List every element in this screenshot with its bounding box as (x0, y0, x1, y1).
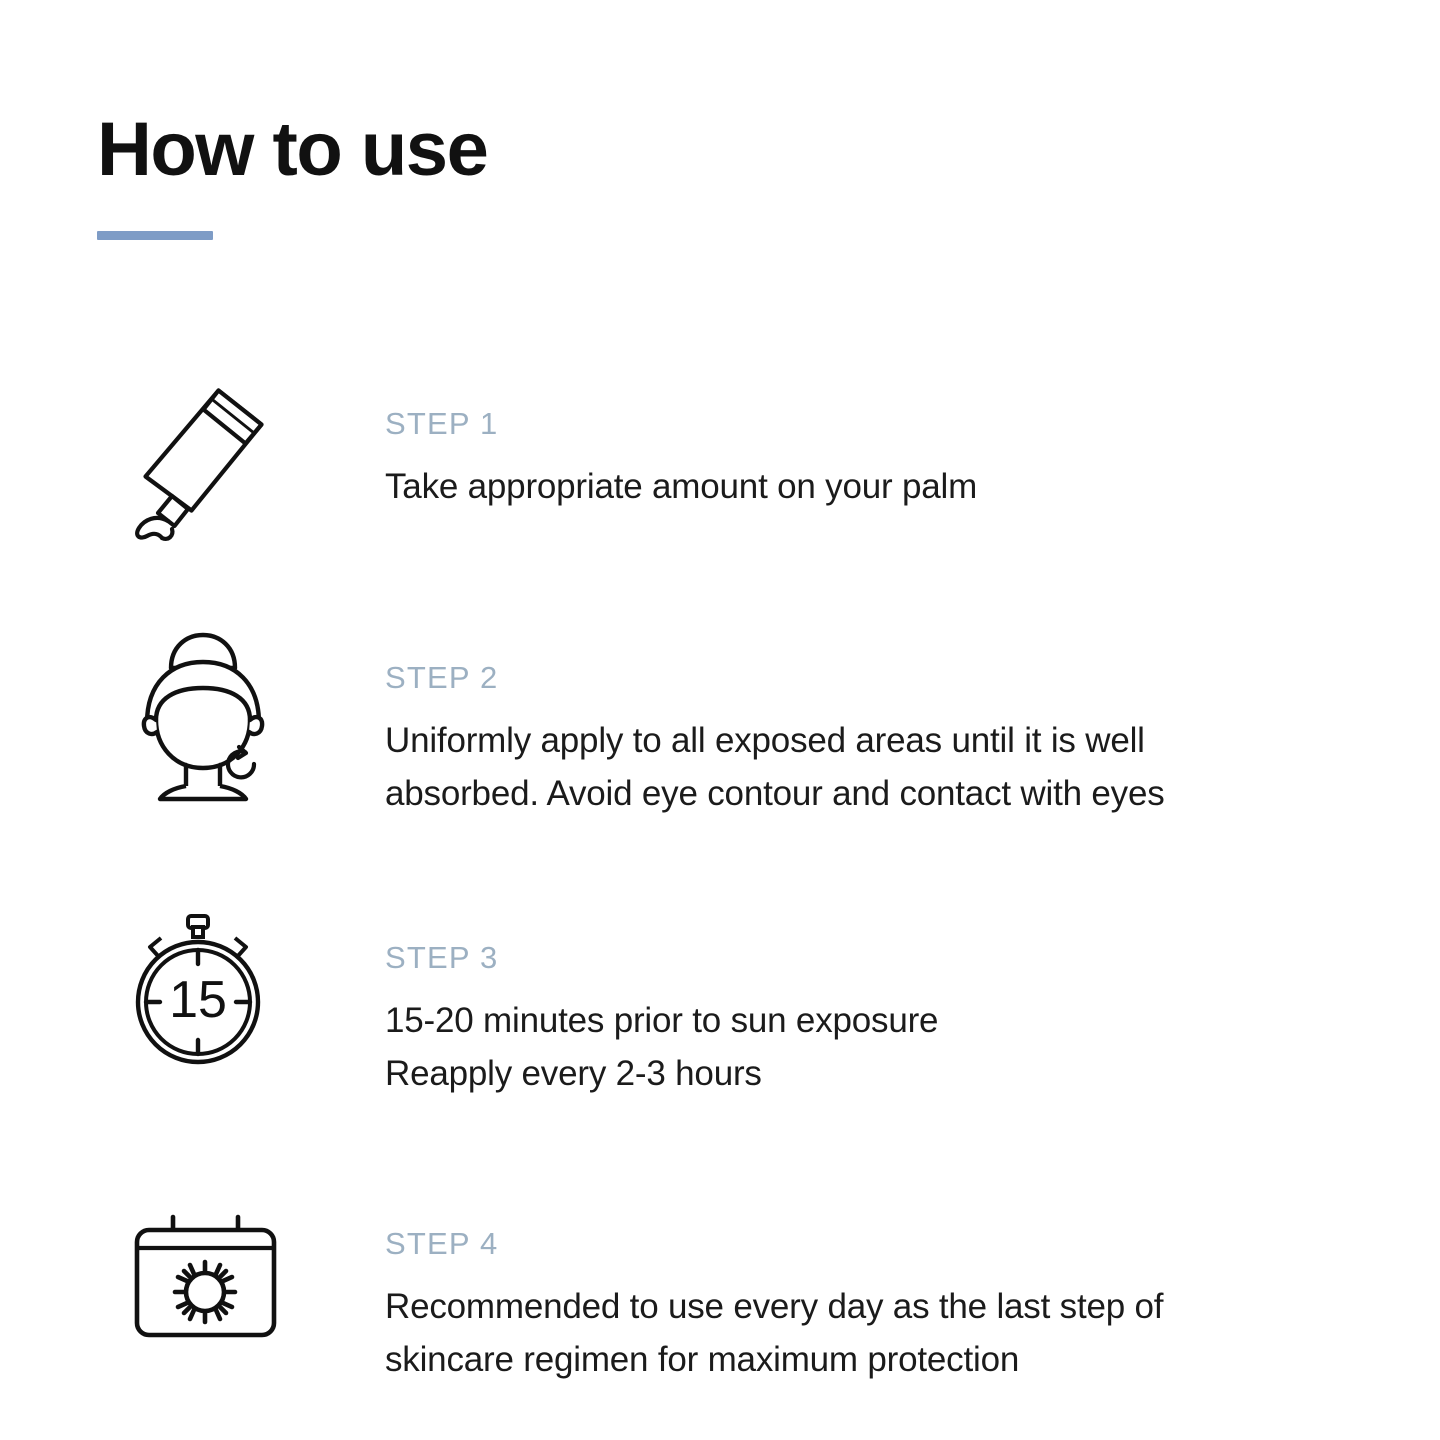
step-row: STEP 1 Take appropriate amount on your p… (0, 372, 1440, 540)
step-label: STEP 2 (385, 662, 1440, 693)
step-row: 15 STEP 3 15-20 minutes prior to sun exp… (0, 906, 1440, 1100)
step-text-cell: STEP 4 Recommended to use every day as t… (385, 1192, 1440, 1386)
stopwatch-value: 15 (169, 971, 227, 1029)
step-description-line: absorbed. Avoid eye contour and contact … (385, 768, 1440, 821)
step-description-line: 15-20 minutes prior to sun exposure (385, 995, 1440, 1048)
page-title: How to use (97, 112, 487, 188)
step-description-line: Take appropriate amount on your palm (385, 461, 1440, 514)
step-description: 15-20 minutes prior to sun exposure Reap… (385, 995, 1440, 1100)
step-description: Take appropriate amount on your palm (385, 461, 1440, 514)
step-text-cell: STEP 1 Take appropriate amount on your p… (385, 372, 1440, 514)
step-description-line: skincare regimen for maximum protection (385, 1334, 1440, 1387)
steps-list: STEP 1 Take appropriate amount on your p… (0, 372, 1440, 1386)
step-description: Recommended to use every day as the last… (385, 1281, 1440, 1386)
step-icon-cell (0, 372, 385, 540)
step-icon-cell (0, 626, 385, 803)
step-description-line: Reapply every 2-3 hours (385, 1048, 1440, 1101)
step-row: STEP 2 Uniformly apply to all exposed ar… (0, 626, 1440, 820)
calendar-sun-icon (128, 1214, 283, 1344)
step-description: Uniformly apply to all exposed areas unt… (385, 715, 1440, 820)
face-apply-icon (128, 628, 278, 803)
stopwatch-icon: 15 (128, 912, 268, 1072)
step-label: STEP 4 (385, 1228, 1440, 1259)
step-label: STEP 3 (385, 942, 1440, 973)
cream-tube-icon (128, 380, 268, 540)
header: How to use (97, 112, 487, 240)
step-description-line: Uniformly apply to all exposed areas unt… (385, 715, 1440, 768)
step-label: STEP 1 (385, 408, 1440, 439)
step-description-line: Recommended to use every day as the last… (385, 1281, 1440, 1334)
step-icon-cell (0, 1192, 385, 1344)
step-text-cell: STEP 3 15-20 minutes prior to sun exposu… (385, 906, 1440, 1100)
title-accent-bar (97, 231, 213, 240)
step-icon-cell: 15 (0, 906, 385, 1072)
how-to-use-infographic: How to use (0, 0, 1440, 1440)
step-row: STEP 4 Recommended to use every day as t… (0, 1192, 1440, 1386)
step-text-cell: STEP 2 Uniformly apply to all exposed ar… (385, 626, 1440, 820)
